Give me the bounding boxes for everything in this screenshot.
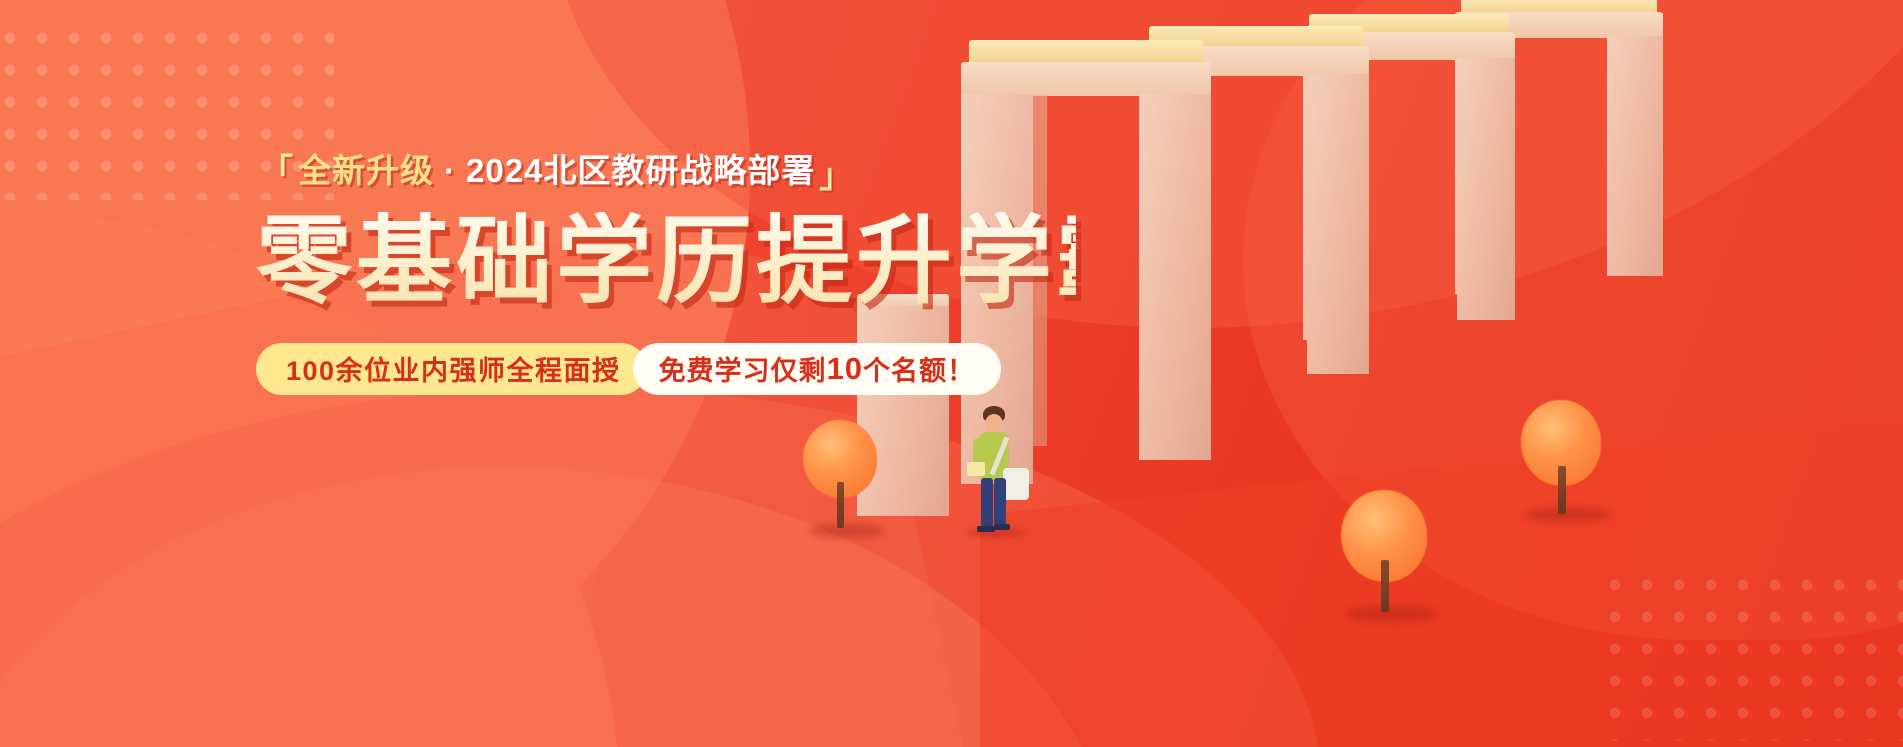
tree-shadow [1525,508,1611,522]
student-figure [963,406,1053,536]
figure-bag [1003,468,1029,500]
tree-trunk [837,482,844,528]
tree-shadow [809,524,885,538]
quota-prefix: 免费学习仅剩 [659,349,827,388]
figure-held-book [967,462,985,476]
book-leg-right [1307,74,1369,374]
tree-right [1521,400,1615,530]
subtitle-separator: · [444,154,456,187]
figure-shoe-right [994,524,1010,530]
quota-pill[interactable]: 免费学习仅剩10个名额！ [633,343,1001,395]
figure-head [985,414,1003,434]
quota-suffix: 个名额！ [863,349,975,388]
tree-mid [1341,490,1441,630]
banner-subtitle: 「 全新升级 · 2024北区教研战略部署 」 [256,148,1076,192]
tree-shadow [1345,606,1437,622]
bracket-open: 「 [260,154,294,187]
figure-shoe-left [977,526,995,532]
promo-banner: 「 全新升级 · 2024北区教研战略部署 」 零基础学历提升学霸班 100余位… [0,0,1903,747]
illustration-group [943,0,1903,747]
book-leg-right [1607,36,1663,276]
figure-leg-right [994,478,1006,526]
book-cover-top [961,62,1211,96]
tree-left [803,420,889,540]
tree-trunk [1558,466,1566,514]
subtitle-gold-text: 全新升级 [298,154,434,187]
tree-trunk [1381,560,1389,612]
banner-text-block: 「 全新升级 · 2024北区教研战略部署 」 零基础学历提升学霸班 100余位… [256,148,1076,395]
teachers-pill[interactable]: 100余位业内强师全程面授 [256,343,647,395]
quota-number: 10 [827,351,863,387]
subtitle-white-text: 2024北区教研战略部署 [466,154,815,187]
figure-leg-left [981,478,993,528]
page-title: 零基础学历提升学霸班 [256,212,1076,313]
bracket-close: 」 [819,159,853,192]
book-leg-right [1457,58,1515,320]
badge-row: 100余位业内强师全程面授 免费学习仅剩10个名额！ [256,343,1076,395]
